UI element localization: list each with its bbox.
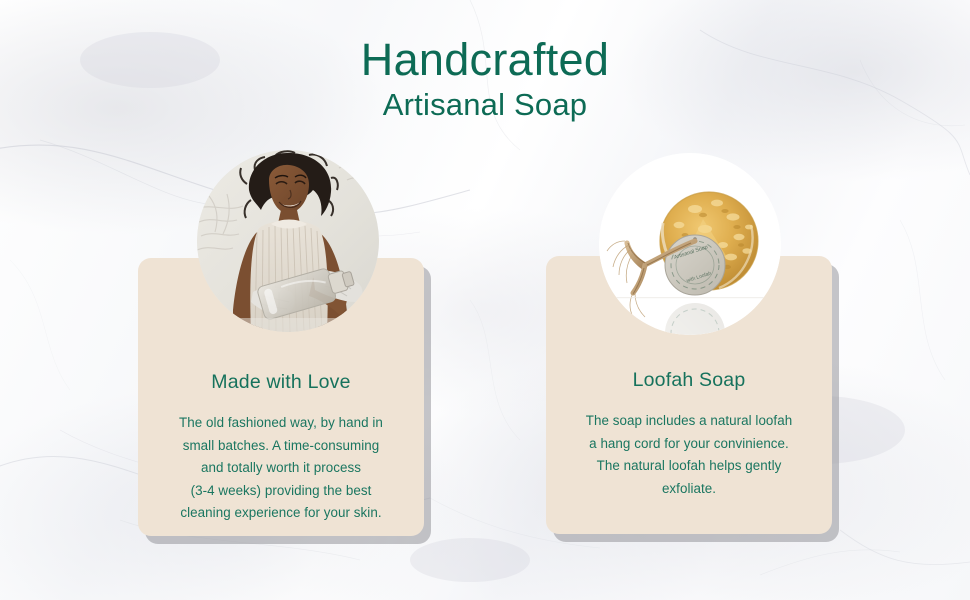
page-title-secondary: Artisanal Soap bbox=[0, 86, 970, 124]
page-title: Handcrafted Artisanal Soap bbox=[0, 34, 970, 124]
woman-pouring-soap-photo bbox=[197, 150, 379, 332]
card-content: Made with Love The old fashioned way, by… bbox=[138, 370, 424, 525]
card-title: Loofah Soap bbox=[558, 368, 820, 392]
card-title: Made with Love bbox=[150, 370, 412, 394]
card-content: Loofah Soap The soap includes a natural … bbox=[546, 368, 832, 500]
card-description: The soap includes a natural loofah a han… bbox=[558, 410, 820, 500]
loofah-soap-bar-photo: Artisanal Soap with Loofah bbox=[599, 153, 781, 335]
page-title-primary: Handcrafted bbox=[0, 34, 970, 86]
card-description: The old fashioned way, by hand in small … bbox=[150, 412, 412, 525]
